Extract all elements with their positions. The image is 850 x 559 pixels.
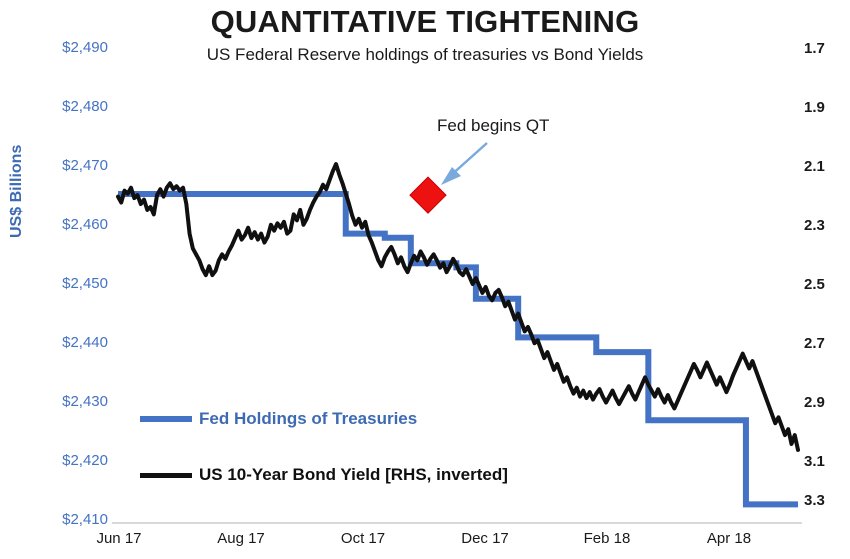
legend-item-fed-holdings[interactable]: Fed Holdings of Treasuries bbox=[140, 409, 417, 429]
legend-label: Fed Holdings of Treasuries bbox=[199, 409, 417, 429]
legend-swatch-blue bbox=[140, 416, 192, 422]
series-line-bond-yield bbox=[118, 164, 798, 450]
chart-container: QUANTITATIVE TIGHTENING US Federal Reser… bbox=[0, 0, 850, 559]
legend-label: US 10-Year Bond Yield [RHS, inverted] bbox=[199, 465, 508, 485]
qt-start-diamond-marker bbox=[410, 177, 446, 213]
series-line-fed-holdings bbox=[118, 194, 798, 504]
annotation-label-fed-begins-qt: Fed begins QT bbox=[437, 116, 549, 136]
legend-item-bond-yield[interactable]: US 10-Year Bond Yield [RHS, inverted] bbox=[140, 465, 508, 485]
annotation-arrow-icon bbox=[441, 143, 487, 185]
legend-swatch-black bbox=[140, 473, 192, 478]
